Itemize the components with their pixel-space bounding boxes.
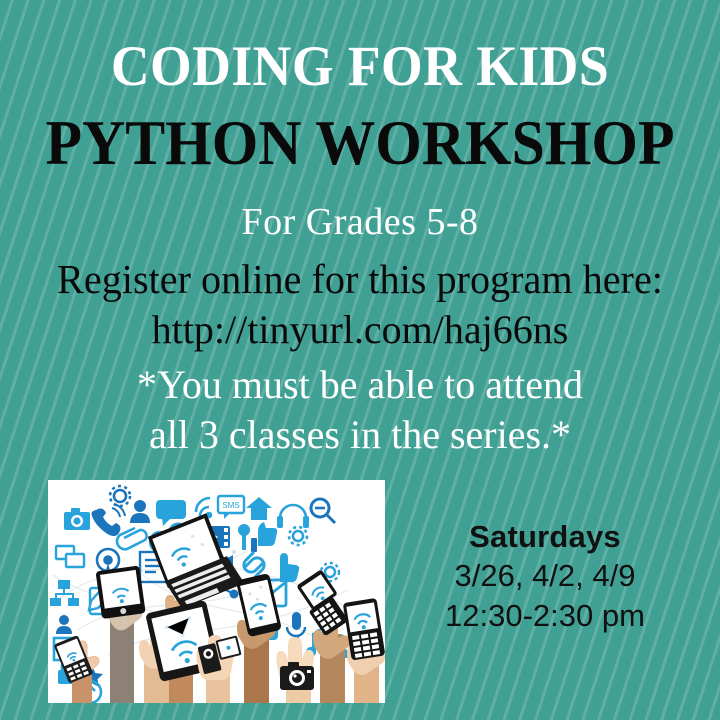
attendance-note-line-1: *You must be able to attend bbox=[0, 362, 720, 408]
page-title-line-1: CODING FOR KIDS bbox=[22, 36, 699, 98]
poster-canvas: CODING FOR KIDS PYTHON WORKSHOP For Grad… bbox=[0, 0, 720, 720]
attendance-note-line-2: all 3 classes in the series.* bbox=[0, 412, 720, 458]
illustration-artwork: SMS bbox=[48, 480, 385, 703]
technology-illustration: SMS bbox=[48, 480, 385, 703]
schedule-day: Saturdays bbox=[400, 518, 690, 556]
svg-text:SMS: SMS bbox=[222, 501, 239, 510]
page-title-line-2: PYTHON WORKSHOP bbox=[18, 108, 702, 178]
schedule-block: Saturdays 3/26, 4/2, 4/9 12:30-2:30 pm bbox=[400, 518, 690, 636]
schedule-time: 12:30-2:30 pm bbox=[400, 596, 690, 636]
registration-url[interactable]: http://tinyurl.com/haj66ns bbox=[0, 306, 720, 354]
grades-line: For Grades 5-8 bbox=[0, 200, 720, 244]
register-instruction-line: Register online for this program here: bbox=[7, 255, 713, 303]
camera-device bbox=[280, 662, 314, 690]
schedule-dates: 3/26, 4/2, 4/9 bbox=[400, 556, 690, 596]
